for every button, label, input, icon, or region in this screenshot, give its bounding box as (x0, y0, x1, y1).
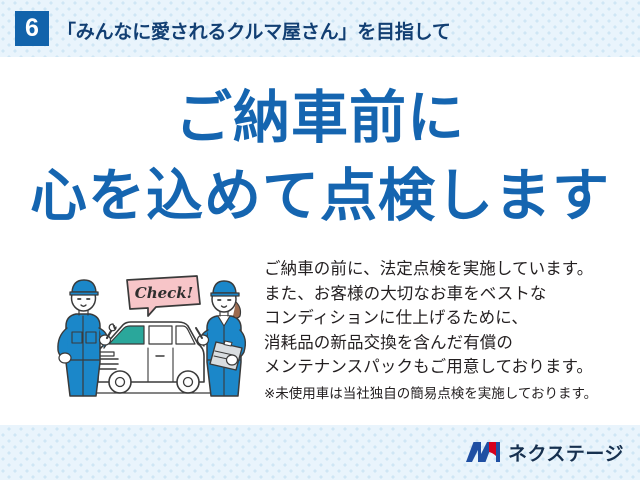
footer: ネクステージ (0, 425, 640, 480)
check-bubble-text: Check! (135, 284, 194, 302)
body-line: また、お客様の大切なお車をベストな (264, 282, 628, 307)
body-note: ※未使用車は当社独自の簡易点検を実施しております。 (264, 383, 628, 405)
step-number-badge: 6 (15, 11, 49, 46)
header: 6 「みんなに愛されるクルマ屋さん」を目指して (0, 0, 640, 57)
nextage-logo: ネクステージ (465, 439, 624, 465)
headline-line-2: 心を込めて点検します (0, 168, 640, 225)
body-copy: ご納車の前に、法定点検を実施しています。 また、お客様の大切なお車をベストな コ… (264, 257, 628, 405)
content-panel: ご納車前に 心を込めて点検します ご納車の前に、法定点検を実施しています。 また… (0, 57, 640, 425)
nextage-logo-text: ネクステージ (508, 439, 624, 466)
body-line: コンディションに仕上げるために、 (264, 306, 628, 331)
page-background: 6 「みんなに愛されるクルマ屋さん」を目指して ご納車前に 心を込めて点検します… (0, 0, 640, 480)
body-line: ご納車の前に、法定点検を実施しています。 (264, 257, 628, 282)
body-line: 消耗品の新品交換を含んだ有償の (264, 331, 628, 356)
headline-line-1: ご納車前に (0, 90, 640, 147)
body-line: メンテナンスパックもご用意しております。 (264, 355, 628, 380)
step-number-label: 6 (25, 16, 39, 41)
illustration-mechanics-inspecting-van: Check! (52, 264, 257, 404)
header-title: 「みんなに愛されるクルマ屋さん」を目指して (57, 17, 451, 44)
nextage-n-mark-icon (465, 440, 501, 464)
